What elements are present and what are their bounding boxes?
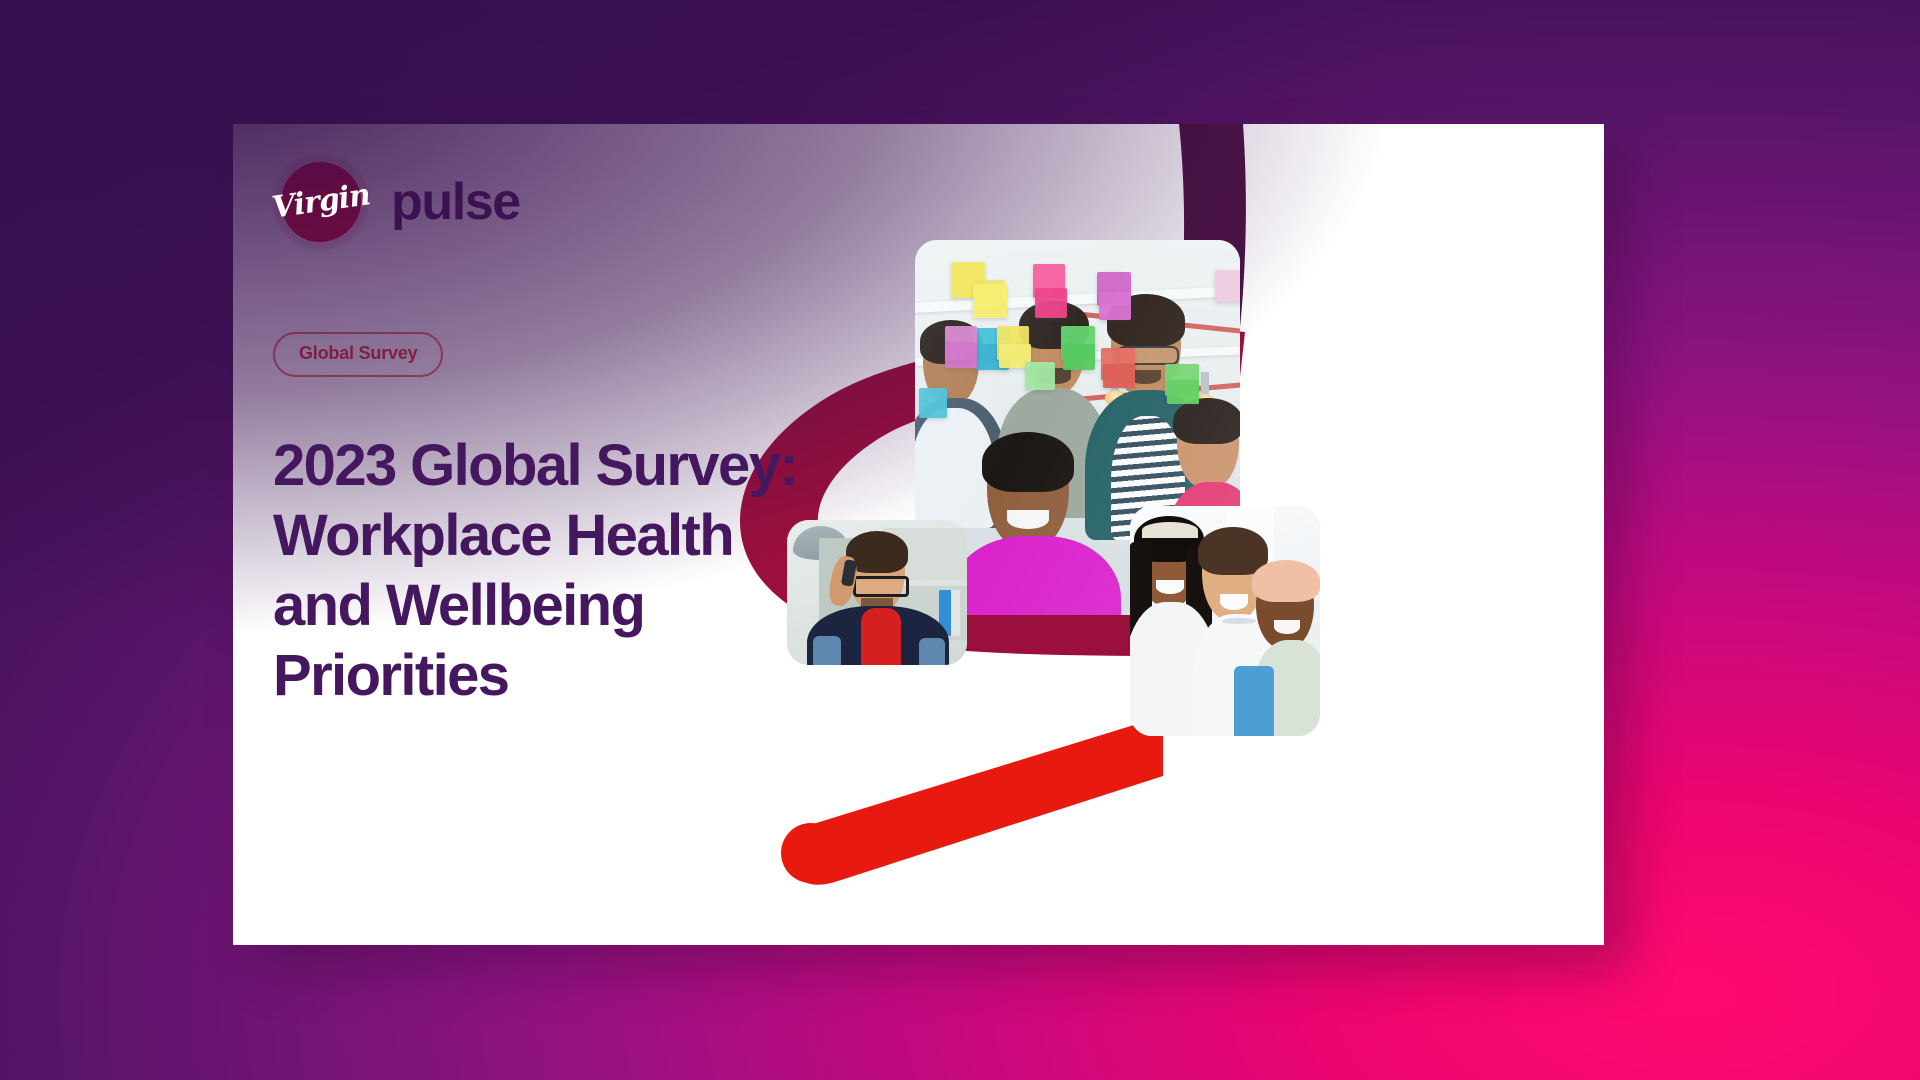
- woman-3: [1256, 574, 1314, 648]
- swoosh-lower-tail: [787, 716, 1163, 885]
- title-card: Virgin pulse Global Survey 2023 Global S…: [233, 124, 1604, 945]
- slide-canvas: Virgin pulse Global Survey 2023 Global S…: [0, 0, 1920, 1080]
- photo-call-scene: [787, 520, 967, 665]
- eyebrow-badge: Global Survey: [273, 332, 443, 377]
- photo-three-women-laughing: [1130, 506, 1320, 736]
- virgin-roundel-icon: Virgin: [273, 154, 369, 250]
- photo-man-on-phone: [787, 520, 967, 665]
- brand-logo-lockup[interactable]: Virgin pulse: [273, 154, 520, 250]
- swoosh-tail-cap: [781, 823, 841, 883]
- eyebrow-label: Global Survey: [299, 343, 417, 364]
- man-head: [849, 542, 905, 612]
- pulse-wordmark: pulse: [391, 176, 520, 228]
- photo-friends-scene: [1130, 506, 1320, 736]
- headline-line-1: 2023 Global Survey:: [273, 431, 913, 501]
